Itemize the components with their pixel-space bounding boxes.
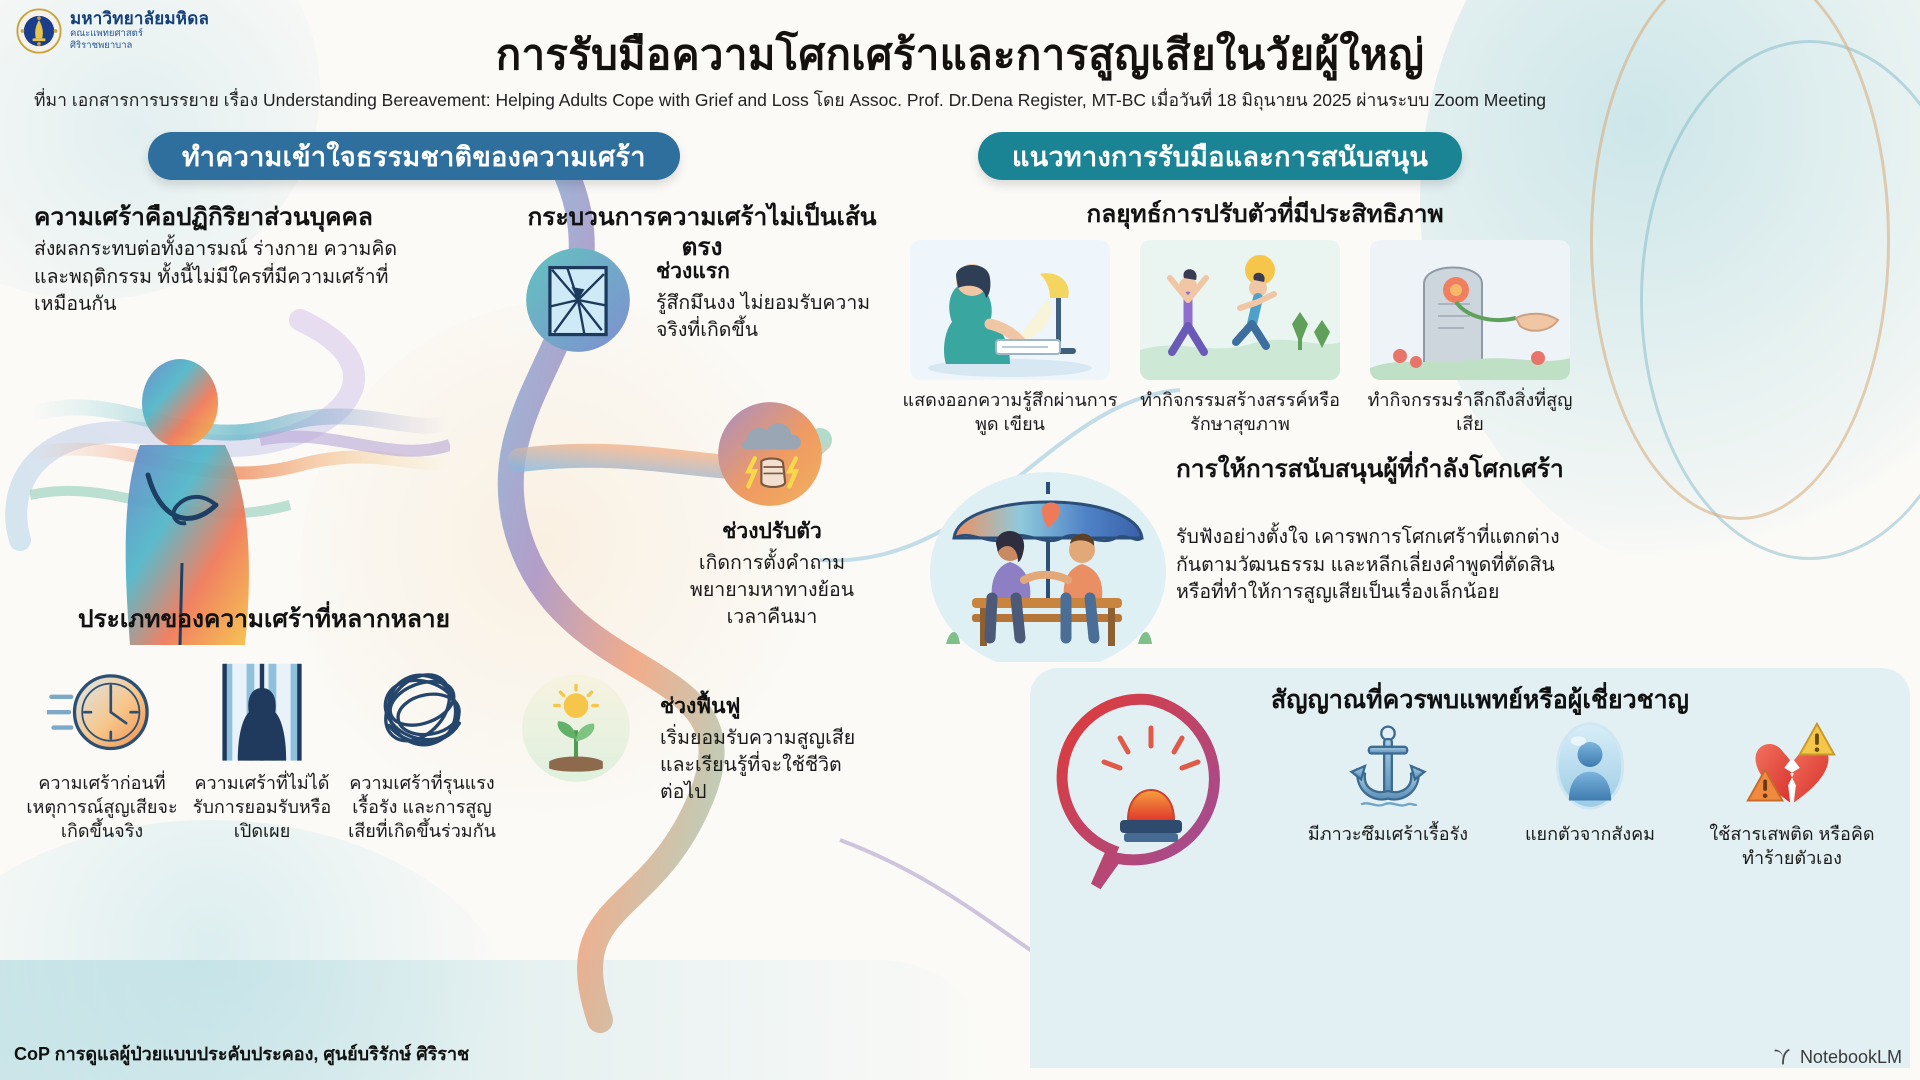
- text-supporting-grieving: รับฟังอย่างตั้งใจ เคารพการโศกเศร้าที่แตก…: [1176, 524, 1576, 607]
- broken-heart-warning-icon: [1744, 718, 1840, 814]
- grieving-person-illustration: [30, 345, 450, 645]
- phase-title: ช่วงแรก: [656, 255, 871, 288]
- strategy-caption: ทำกิจกรรมสร้างสรรค์หรือรักษาสุขภาพ: [1130, 388, 1350, 436]
- strategy-caption: แสดงออกความรู้สึกผ่านการพูด เขียน: [900, 388, 1120, 436]
- page-title: การรับมือความโศกเศร้าและการสูญเสียในวัยผ…: [0, 22, 1920, 88]
- sprout-sun-icon: [520, 672, 632, 784]
- type-caption: ความเศร้าก่อนที่เหตุการณ์สูญเสียจะเกิดขึ…: [26, 771, 178, 843]
- heading-coping-strategies: กลยุทธ์การปรับตัวที่มีประสิทธิภาพ: [950, 200, 1580, 230]
- couple-under-umbrella-on-bench-icon: [920, 452, 1176, 662]
- text-grief-is-personal: ส่งผลกระทบต่อทั้งอารมณ์ ร่างกาย ความคิด …: [34, 236, 414, 319]
- anchor-icon: [1340, 718, 1436, 814]
- phase-item-3: ช่วงฟื้นฟู เริ่มยอมรับความสูญเสีย และเรี…: [660, 690, 860, 806]
- phase-body: รู้สึกมึนงง ไม่ยอมรับความจริงที่เกิดขึ้น: [656, 290, 871, 344]
- type-item: ความเศร้าก่อนที่เหตุการณ์สูญเสียจะเกิดขึ…: [26, 655, 178, 843]
- footer-credit: CoP การดูแลผู้ป่วยแบบประคับประคอง, ศูนย์…: [14, 1039, 469, 1068]
- heading-grief-is-personal: ความเศร้าคือปฏิกิริยาส่วนบุคคล: [34, 203, 454, 233]
- phase-item-1: ช่วงแรก รู้สึกมึนงง ไม่ยอมรับความจริงที่…: [656, 255, 871, 344]
- phase-body: เกิดการตั้งคำถาม พยายามหาทางย้อนเวลาคืนม…: [672, 550, 872, 631]
- section-header-understanding: ทำความเข้าใจธรรมชาติของความเศร้า: [148, 132, 680, 180]
- types-of-grief-row: ความเศร้าก่อนที่เหตุการณ์สูญเสียจะเกิดขึ…: [26, 655, 506, 843]
- broken-glass-icon: [524, 246, 632, 354]
- strategy-caption: ทำกิจกรรมรำลึกถึงสิ่งที่สูญเสีย: [1360, 388, 1580, 436]
- phase-title: ช่วงฟื้นฟู: [660, 690, 860, 723]
- type-caption: ความเศร้าที่ไม่ได้รับการยอมรับหรือเปิดเผ…: [186, 771, 338, 843]
- strategy-item: ทำกิจกรรมรำลึกถึงสิ่งที่สูญเสีย: [1360, 240, 1580, 436]
- yoga-and-running-icon: [1140, 240, 1340, 380]
- phase-body: เริ่มยอมรับความสูญเสีย และเรียนรู้ที่จะใ…: [660, 725, 860, 806]
- warning-item: ใช้สารเสพติด หรือคิดทำร้ายตัวเอง: [1694, 718, 1890, 870]
- coping-strategies-row: แสดงออกความรู้สึกผ่านการพูด เขียน: [900, 240, 1580, 436]
- warning-signs-row: มีภาวะซึมเศร้าเรื้อรัง แยกตัวจากสังคม: [1290, 718, 1890, 870]
- warning-caption: ใช้สารเสพติด หรือคิดทำร้ายตัวเอง: [1694, 822, 1890, 870]
- type-item: ความเศร้าที่รุนแรงเรื้อรัง และการสูญเสีย…: [346, 655, 498, 843]
- footer-notebooklm: NotebookLM: [1771, 1046, 1902, 1068]
- warning-caption: แยกตัวจากสังคม: [1525, 822, 1655, 846]
- warning-item: แยกตัวจากสังคม: [1492, 718, 1688, 870]
- type-caption: ความเศร้าที่รุนแรงเรื้อรัง และการสูญเสีย…: [346, 771, 498, 843]
- section-header-coping: แนวทางการรับมือและการสนับสนุน: [978, 132, 1462, 180]
- isolated-person-icon: [1542, 718, 1638, 814]
- writing-at-desk-icon: [910, 240, 1110, 380]
- notebooklm-icon: [1771, 1046, 1793, 1068]
- type-item: ความเศร้าที่ไม่ได้รับการยอมรับหรือเปิดเผ…: [186, 655, 338, 843]
- tangled-scribble-icon: [367, 655, 477, 765]
- phase-title: ช่วงปรับตัว: [672, 515, 872, 548]
- phase-item-2: ช่วงปรับตัว เกิดการตั้งคำถาม พยายามหาทาง…: [672, 515, 872, 631]
- memorial-flower-icon: [1370, 240, 1570, 380]
- strategy-item: ทำกิจกรรมสร้างสรรค์หรือรักษาสุขภาพ: [1130, 240, 1350, 436]
- heading-types-of-grief: ประเภทของความเศร้าที่หลากหลาย: [34, 605, 494, 635]
- warning-item: มีภาวะซึมเศร้าเรื้อรัง: [1290, 718, 1486, 870]
- clock-icon: [47, 655, 157, 765]
- bg-ring-teal: [1640, 40, 1920, 560]
- infographic-poster: มหาวิทยาลัยมหิดล คณะแพทยศาสตร์ ศิริราชพย…: [0, 0, 1920, 1080]
- silhouette-behind-bars-icon: [207, 655, 317, 765]
- page-subtitle: ที่มา เอกสารการบรรยาย เรื่อง Understandi…: [34, 90, 1900, 111]
- notebooklm-label: NotebookLM: [1800, 1047, 1902, 1068]
- strategy-item: แสดงออกความรู้สึกผ่านการพูด เขียน: [900, 240, 1120, 436]
- heading-supporting-grieving: การให้การสนับสนุนผู้ที่กำลังโศกเศร้า: [1176, 455, 1596, 485]
- warning-caption: มีภาวะซึมเศร้าเรื้อรัง: [1308, 822, 1468, 846]
- siren-alarm-icon: [1056, 690, 1246, 890]
- storm-cloud-fist-icon: [716, 400, 824, 508]
